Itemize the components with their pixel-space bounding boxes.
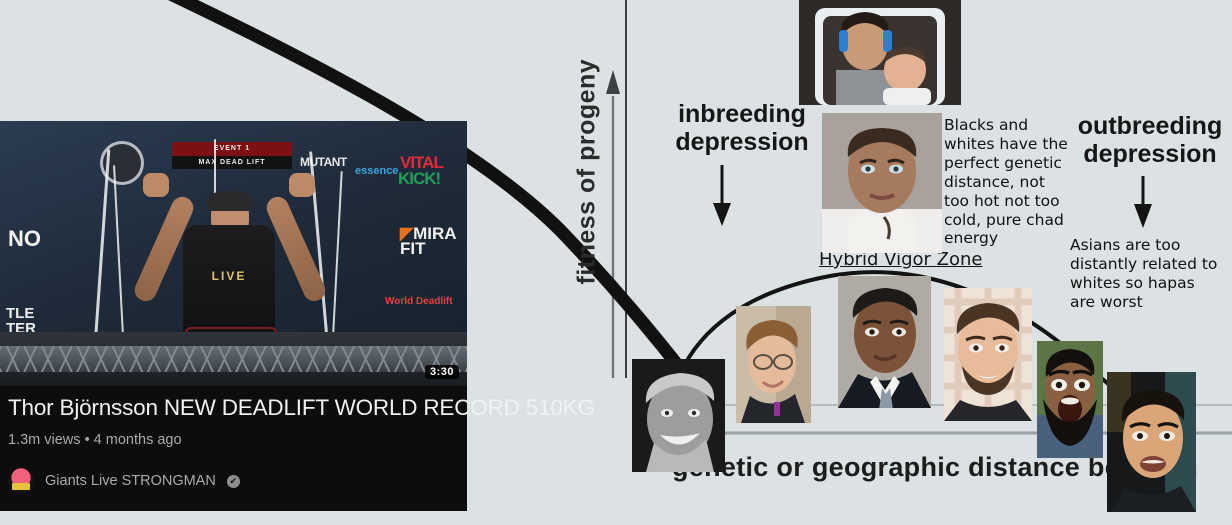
photo-father-and-baby bbox=[799, 0, 961, 105]
outbreeding-heading-line2: depression bbox=[1075, 140, 1225, 168]
y-axis-arrowhead bbox=[606, 70, 620, 94]
photo-grinning-old-man bbox=[632, 359, 725, 472]
photo-young-man bbox=[1107, 372, 1196, 512]
video-stats: 1.3m views • 4 months ago bbox=[8, 432, 182, 448]
fist-right bbox=[289, 173, 315, 197]
stage-truss bbox=[0, 346, 467, 372]
photo-bearded-young-man bbox=[944, 288, 1032, 421]
outbreeding-heading-line1: outbreeding bbox=[1075, 112, 1225, 140]
video-thumbnail[interactable]: EVENT 1 MAX DEAD LIFT MUTANT essence VIT… bbox=[0, 121, 467, 386]
sponsor-logo-mirafit: ◤MIRAFIT bbox=[400, 226, 457, 256]
outbreeding-arrow-icon bbox=[1134, 176, 1152, 228]
fist-left bbox=[143, 173, 169, 197]
youtube-video-card[interactable]: EVENT 1 MAX DEAD LIFT MUTANT essence VIT… bbox=[0, 121, 467, 511]
sponsor-logo-kick: KICK! bbox=[398, 169, 440, 189]
inbreeding-depression-heading: inbreeding depression bbox=[672, 100, 812, 156]
photo-shouting-man bbox=[1037, 341, 1103, 458]
sponsor-logo-no: NO bbox=[8, 226, 41, 252]
athlete-cap bbox=[206, 191, 254, 211]
video-title[interactable]: Thor Björnsson NEW DEADLIFT WORLD RECORD… bbox=[8, 395, 463, 421]
inbreeding-arrow-icon bbox=[713, 165, 731, 226]
outbreeding-depression-heading: outbreeding depression bbox=[1075, 112, 1225, 168]
channel-avatar[interactable] bbox=[8, 468, 34, 494]
photo-man-with-glasses bbox=[736, 306, 811, 423]
channel-row[interactable]: Giants Live STRONGMAN ✔ bbox=[8, 468, 240, 494]
channel-name[interactable]: Giants Live STRONGMAN bbox=[45, 473, 216, 489]
y-axis-label: fitness of progeny bbox=[573, 105, 602, 285]
video-metadata-panel: Thor Björnsson NEW DEADLIFT WORLD RECORD… bbox=[0, 386, 467, 511]
sponsor-logo-world-deadlift: World Deadlift bbox=[385, 296, 453, 307]
note-middle-text: Blacks and whites have the perfect genet… bbox=[944, 116, 1068, 248]
stats-separator: • bbox=[85, 432, 90, 448]
photo-obama bbox=[838, 276, 931, 408]
note-right-text: Asians are too distantly related to whit… bbox=[1070, 236, 1220, 312]
vest-text: LIVE bbox=[189, 269, 269, 283]
inbreeding-heading-line2: depression bbox=[672, 128, 812, 156]
photo-mugshot-man bbox=[822, 113, 942, 253]
video-upload-age: 4 months ago bbox=[94, 432, 182, 448]
inbreeding-heading-line1: inbreeding bbox=[672, 100, 812, 128]
video-duration-badge: 3:30 bbox=[425, 365, 459, 379]
sponsor-logo-essence: essence bbox=[355, 165, 398, 177]
verified-badge-icon: ✔ bbox=[227, 475, 240, 488]
video-view-count: 1.3m views bbox=[8, 432, 81, 448]
meme-image-canvas: fitness of progeny genetic or geographic… bbox=[0, 0, 1232, 525]
